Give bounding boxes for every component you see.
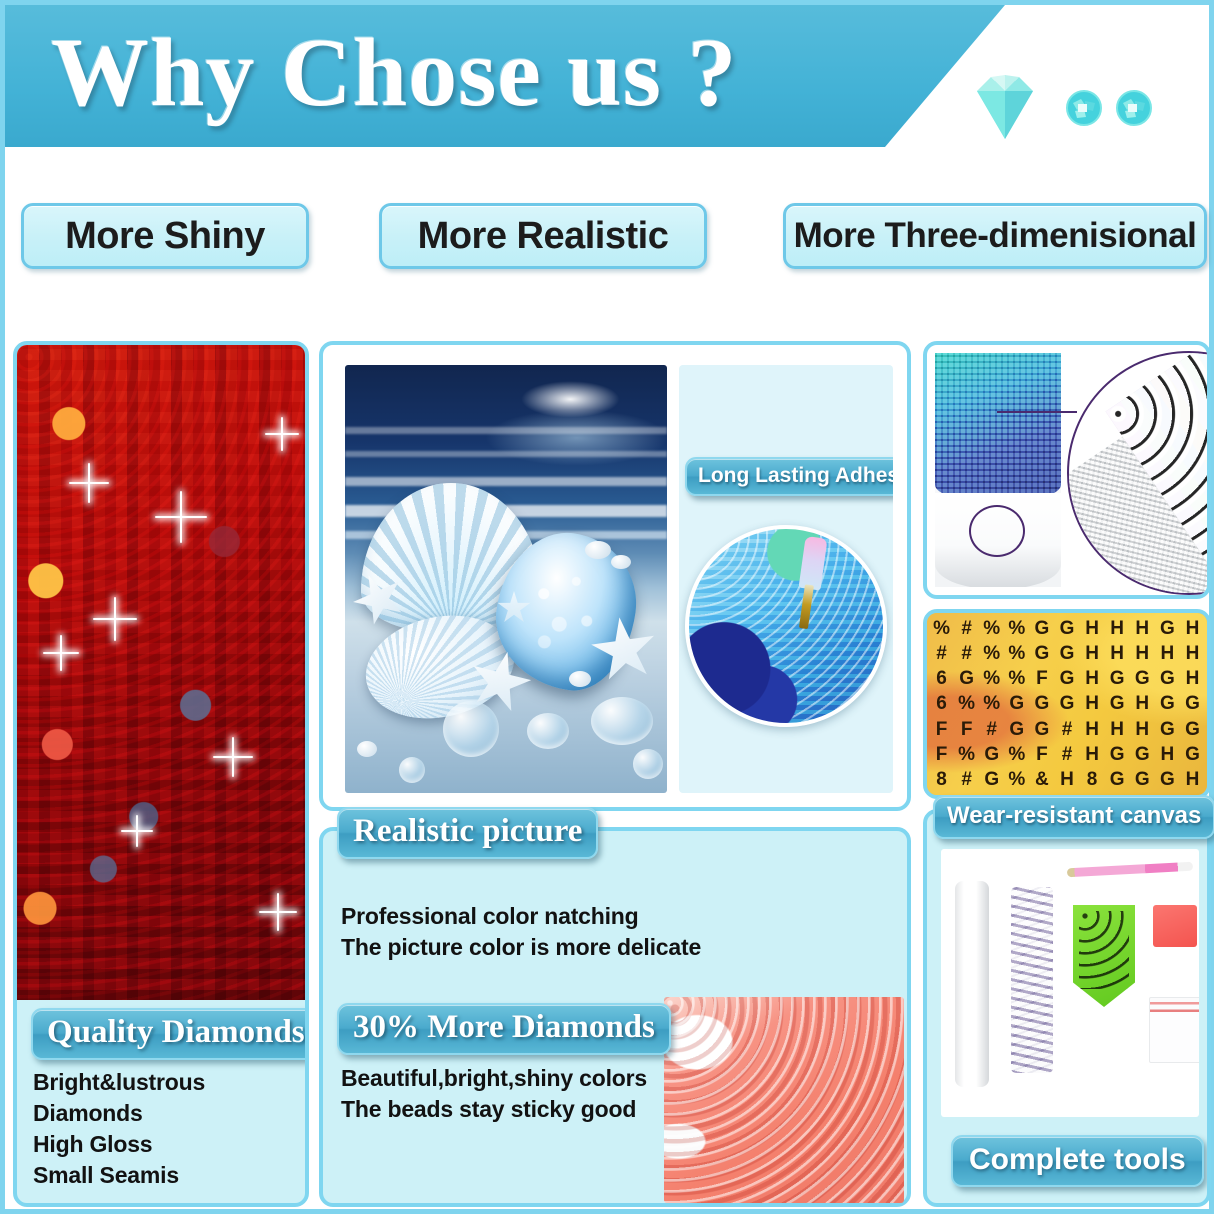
feature-pill-more-realistic[interactable]: More Realistic xyxy=(379,203,707,269)
symbol-cell: G xyxy=(1130,745,1155,764)
symbol-cell: G xyxy=(954,669,979,688)
symbol-cell: H xyxy=(1130,644,1155,663)
symbol-cell: H xyxy=(1080,720,1105,739)
long-lasting-adhesive-heading: Long Lasting Adhesive xyxy=(685,457,893,496)
symbol-cell: # xyxy=(929,644,954,663)
symbol-cell: G xyxy=(1130,669,1155,688)
symbol-cell: G xyxy=(1105,694,1130,713)
green-drill-tray-tool xyxy=(1073,905,1135,1007)
header-banner: Why Chose us ? xyxy=(5,5,1214,153)
seashell-artwork xyxy=(345,365,667,793)
symbol-cell: G xyxy=(979,770,1004,789)
diamond-bags-tool xyxy=(1011,887,1053,1073)
symbol-cell: H xyxy=(1155,745,1180,764)
canvas-magnified-detail xyxy=(1067,351,1211,595)
realistic-picture-bullets: Professional color natching The picture … xyxy=(341,901,701,963)
symbol-cell: 8 xyxy=(1080,770,1105,789)
symbol-cell: G xyxy=(1155,694,1180,713)
complete-tools-heading: Complete tools xyxy=(951,1135,1204,1187)
symbol-cell: H xyxy=(1130,694,1155,713)
symbol-cell: G xyxy=(1155,770,1180,789)
symbol-cell: G xyxy=(1029,694,1054,713)
bullet-item: Beautiful,bright,shiny colors xyxy=(341,1063,647,1094)
symbol-cell: G xyxy=(1004,694,1029,713)
symbol-cell: G xyxy=(979,745,1004,764)
symbol-cell: H xyxy=(1130,619,1155,638)
symbol-row: %#%%GGHHHGH xyxy=(929,616,1205,641)
round-drill-icon xyxy=(1065,89,1103,127)
symbol-cell: G xyxy=(1105,745,1130,764)
symbol-cell: H xyxy=(1080,694,1105,713)
symbol-cell: H xyxy=(1054,770,1079,789)
pink-diamond-drills-photo xyxy=(664,997,904,1203)
symbol-cell: H xyxy=(1180,619,1205,638)
round-drill-icon xyxy=(1115,89,1153,127)
realistic-picture-photo-panel: Long Lasting Adhesive xyxy=(319,341,911,811)
bullet-item: The beads stay sticky good xyxy=(341,1094,647,1125)
symbol-cell: & xyxy=(1029,770,1054,789)
symbol-cell: H xyxy=(1080,669,1105,688)
canvas-zoom-panel xyxy=(923,341,1211,599)
feature-pill-more-shiny[interactable]: More Shiny xyxy=(21,203,309,269)
symbol-cell: % xyxy=(1004,745,1029,764)
symbol-cell: G xyxy=(1180,720,1205,739)
symbol-cell: # xyxy=(979,720,1004,739)
symbol-cell: G xyxy=(1155,619,1180,638)
symbol-cell: % xyxy=(954,745,979,764)
symbol-cell: G xyxy=(1105,770,1130,789)
symbol-cell: G xyxy=(1180,694,1205,713)
symbol-cell: F xyxy=(1029,669,1054,688)
realistic-picture-heading: Realistic picture xyxy=(337,807,598,859)
bullet-item: The picture color is more delicate xyxy=(341,932,701,963)
symbol-cell: G xyxy=(1155,669,1180,688)
symbol-cell: G xyxy=(1054,694,1079,713)
symbol-cell: F xyxy=(1029,745,1054,764)
quality-diamonds-panel: Quality Diamonds Bright&lustrous Diamond… xyxy=(13,341,309,1207)
symbol-cell: G xyxy=(1130,770,1155,789)
symbol-cell: # xyxy=(1054,720,1079,739)
symbol-cell: F xyxy=(954,720,979,739)
symbol-cell: G xyxy=(1054,644,1079,663)
symbol-cell: # xyxy=(954,644,979,663)
symbol-cell: % xyxy=(979,669,1004,688)
quality-diamonds-heading: Quality Diamonds xyxy=(31,1008,309,1060)
more-diamonds-heading: 30% More Diamonds xyxy=(337,1003,671,1055)
zoom-leader-line xyxy=(997,411,1077,413)
infographic-page: Why Chose us ? xyxy=(0,0,1214,1214)
rolled-canvas-tool xyxy=(955,881,989,1087)
bullet-item: Professional color natching xyxy=(341,901,701,932)
symbol-cell: H xyxy=(1130,720,1155,739)
feature-pill-label: More Three-dimenisional xyxy=(794,216,1197,256)
left-column: Quality Diamonds Bright&lustrous Diamond… xyxy=(13,341,309,1207)
symbol-cell: % xyxy=(979,694,1004,713)
bullet-item: Bright&lustrous Diamonds xyxy=(33,1067,305,1129)
symbol-row: F%G%F#HGGHG xyxy=(929,742,1205,767)
symbol-cell: % xyxy=(979,619,1004,638)
zip-bags-tool xyxy=(1149,997,1199,1063)
symbol-cell: 6 xyxy=(929,694,954,713)
feature-pill-more-three-dimensional[interactable]: More Three-dimenisional xyxy=(783,203,1207,269)
symbol-chart-panel: %#%%GGHHHGH##%%GGHHHHH6G%%FGHGGGH6%%GGGH… xyxy=(923,609,1211,799)
bullet-item: High Gloss xyxy=(33,1129,305,1160)
symbol-cell: G xyxy=(1029,644,1054,663)
symbol-cell: F xyxy=(929,720,954,739)
symbol-cell: H xyxy=(1180,770,1205,789)
symbol-cell: G xyxy=(1029,619,1054,638)
symbol-cell: H xyxy=(1080,619,1105,638)
symbol-cell: G xyxy=(1004,720,1029,739)
symbol-cell: H xyxy=(1155,644,1180,663)
header-gem-group xyxy=(965,67,1214,147)
symbol-cell: H xyxy=(1080,745,1105,764)
wear-resistant-canvas-heading: Wear-resistant canvas xyxy=(933,795,1214,839)
symbol-cell: H xyxy=(1080,644,1105,663)
feature-pill-row: More Shiny More Realistic More Three-dim… xyxy=(5,203,1214,275)
symbol-cell: % xyxy=(1004,770,1029,789)
symbol-cell: H xyxy=(1105,619,1130,638)
symbol-cell: H xyxy=(1180,644,1205,663)
symbol-cell: # xyxy=(954,770,979,789)
symbol-cell: H xyxy=(1180,669,1205,688)
symbol-cell: % xyxy=(1004,669,1029,688)
zoom-marker-circle xyxy=(969,505,1025,557)
symbol-cell: 8 xyxy=(929,770,954,789)
applicator-pen-tool xyxy=(1067,862,1193,878)
feature-pill-label: More Shiny xyxy=(65,215,265,258)
middle-column: Long Lasting Adhesive Realistic picture … xyxy=(319,341,911,1207)
red-diamond-drills-photo xyxy=(17,345,305,1000)
symbol-cell: H xyxy=(1105,720,1130,739)
symbol-cell: G xyxy=(1155,720,1180,739)
tool-kit-photo xyxy=(941,849,1199,1117)
symbol-cell: 6 xyxy=(929,669,954,688)
symbol-cell: % xyxy=(929,619,954,638)
symbol-cell: G xyxy=(1180,745,1205,764)
symbol-cell: F xyxy=(929,745,954,764)
symbol-cell: G xyxy=(1054,619,1079,638)
symbol-row: ##%%GGHHHHH xyxy=(929,641,1205,666)
symbol-cell: % xyxy=(954,694,979,713)
symbol-cell: # xyxy=(1054,745,1079,764)
right-column: %#%%GGHHHGH##%%GGHHHHH6G%%FGHGGGH6%%GGGH… xyxy=(923,341,1211,1207)
diamond-gem-icon xyxy=(965,67,1045,143)
more-diamonds-bullets: Beautiful,bright,shiny colors The beads … xyxy=(341,1063,647,1125)
symbol-cell: % xyxy=(1004,644,1029,663)
feature-pill-label: More Realistic xyxy=(418,215,669,258)
symbol-row: 6%%GGGHGHGG xyxy=(929,691,1205,716)
symbol-cell: G xyxy=(1105,669,1130,688)
blue-drills-closeup-photo xyxy=(685,525,887,727)
symbol-row: 6G%%FGHGGGH xyxy=(929,666,1205,691)
printed-symbol-grid: %#%%GGHHHGH##%%GGHHHHH6G%%FGHGGGH6%%GGGH… xyxy=(927,613,1207,795)
symbol-cell: % xyxy=(1004,619,1029,638)
symbol-cell: G xyxy=(1054,669,1079,688)
symbol-row: FF#GG#HHHGG xyxy=(929,717,1205,742)
quality-diamonds-bullets: Bright&lustrous Diamonds High Gloss Smal… xyxy=(33,1067,305,1191)
applicator-pen-icon xyxy=(790,536,829,635)
symbol-cell: # xyxy=(954,619,979,638)
symbol-cell: % xyxy=(979,644,1004,663)
symbol-cell: H xyxy=(1105,644,1130,663)
symbol-cell: G xyxy=(1029,720,1054,739)
pink-glue-clay-tool xyxy=(1153,905,1197,947)
page-title: Why Chose us ? xyxy=(51,13,738,133)
complete-tools-panel: Complete tools xyxy=(923,809,1211,1207)
adhesive-section: Long Lasting Adhesive xyxy=(679,365,893,793)
bullet-item: Small Seamis xyxy=(33,1160,305,1191)
symbol-row: 8#G%&H8GGGH xyxy=(929,767,1205,792)
